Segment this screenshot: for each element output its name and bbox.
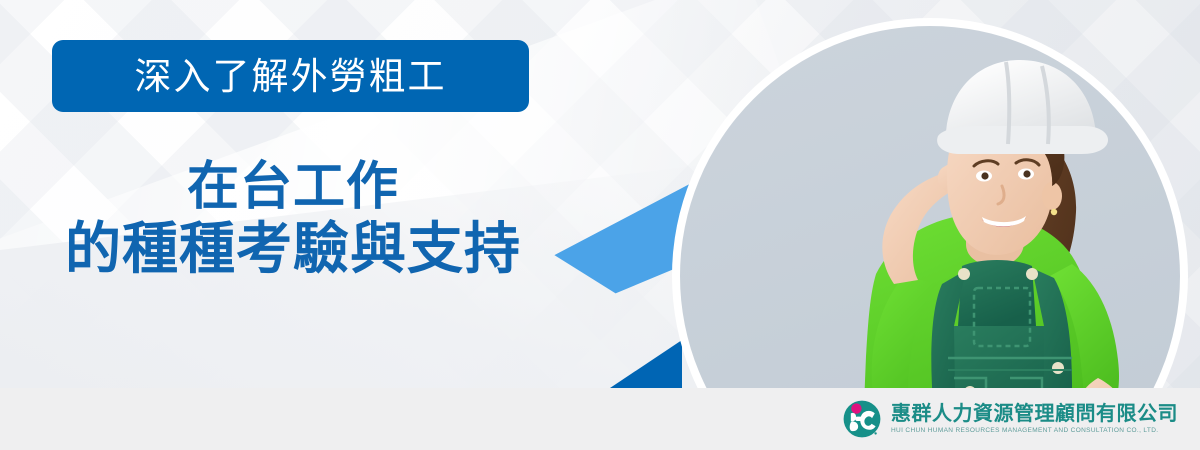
photo-circle-disc [680,26,1180,450]
company-name-block: 惠群人力資源管理顧問有限公司 HUI CHUN HUMAN RESOURCES … [891,404,1178,434]
page-title: 在台工作 的種種考驗與支持 [28,160,558,278]
headline-line-2: 的種種考驗與支持 [28,219,558,278]
hc-logo-icon [842,399,882,439]
company-name-cn: 惠群人力資源管理顧問有限公司 [891,404,1178,425]
company-logo[interactable]: 惠群人力資源管理顧問有限公司 HUI CHUN HUMAN RESOURCES … [842,399,1178,439]
footer-bar: 惠群人力資源管理顧問有限公司 HUI CHUN HUMAN RESOURCES … [0,388,1200,450]
promotional-banner: 深入了解外勞粗工 在台工作 的種種考驗與支持 惠群人力資源管理顧問有限公司 [0,0,1200,450]
company-name-en: HUI CHUN HUMAN RESOURCES MANAGEMENT AND … [891,427,1178,434]
worker-photo-illustration [680,26,1180,450]
headline-line-1: 在台工作 [28,160,558,215]
topic-badge: 深入了解外勞粗工 [52,40,529,112]
topic-badge-label: 深入了解外勞粗工 [135,58,447,95]
